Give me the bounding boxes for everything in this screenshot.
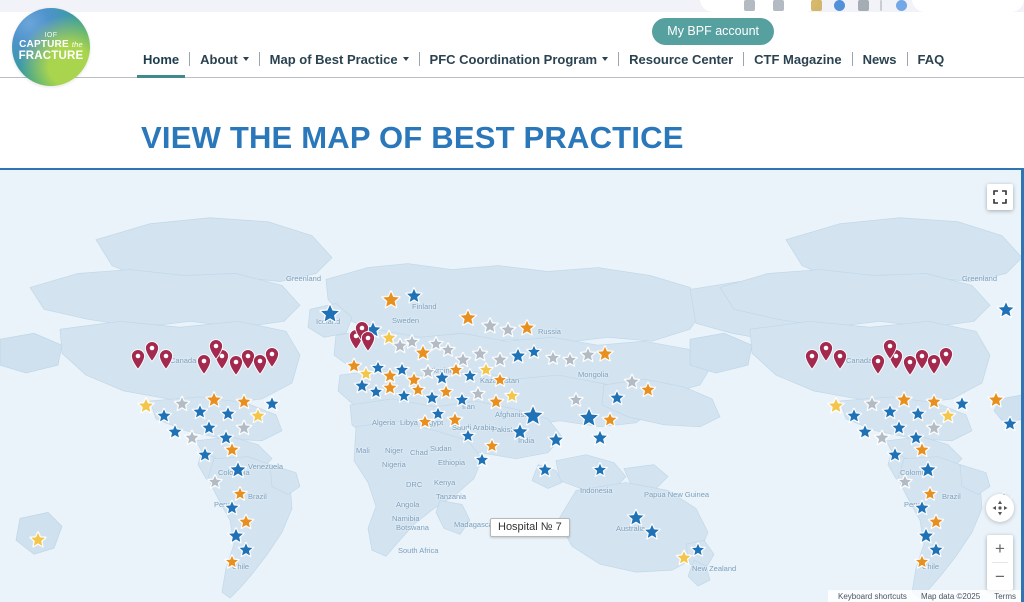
logo-org-text: IOF [45, 32, 58, 39]
map-marker-star-orange[interactable] [459, 309, 477, 327]
nav-item-label: FAQ [918, 52, 945, 67]
map-marker-star-orange[interactable] [418, 415, 433, 430]
map-canvas[interactable]: .ld { fill:#d3e3f0; stroke:#c1d8e9; stro… [0, 170, 1024, 602]
map-marker-star-blue[interactable] [592, 430, 609, 447]
map-marker-star-blue[interactable] [475, 453, 490, 468]
map-marker-star-gray[interactable] [926, 420, 942, 436]
map-marker-star-orange[interactable] [915, 555, 930, 570]
map-marker-star-blue[interactable] [510, 348, 527, 365]
map-marker-star-blue[interactable] [397, 389, 412, 404]
nav-item-home[interactable]: Home [134, 52, 188, 77]
map-marker-star-gray[interactable] [174, 396, 190, 412]
nav-item-label: News [863, 52, 897, 67]
nav-item-pfc-coordination-program[interactable]: PFC Coordination Program [421, 52, 618, 77]
zoom-in-button[interactable]: + [987, 535, 1013, 562]
map-marker-star-orange[interactable] [988, 392, 1005, 409]
split-icon[interactable] [880, 0, 882, 11]
map-marker-star-blue[interactable] [857, 424, 873, 440]
sync-icon[interactable] [896, 0, 907, 11]
nav-item-label: PFC Coordination Program [430, 52, 598, 67]
map-marker-star-gray[interactable] [184, 430, 200, 446]
map-marker-star-gray[interactable] [569, 393, 584, 408]
map-marker-star-blue[interactable] [197, 447, 213, 463]
map-marker-pin[interactable] [361, 331, 376, 352]
map-marker-star-blue[interactable] [1002, 416, 1018, 432]
map-marker-star-blue[interactable] [928, 542, 944, 558]
profile-icon[interactable] [834, 0, 845, 11]
capture-the-fracture-logo[interactable]: IOF CAPTURE the FRACTURE [12, 8, 90, 86]
map-marker-star-blue[interactable] [891, 420, 907, 436]
nav-separator [189, 52, 190, 66]
map-marker-star-gray[interactable] [563, 353, 578, 368]
map-data-attribution: Map data ©2025 [921, 592, 980, 601]
map-marker-star-gray[interactable] [546, 351, 561, 366]
map-marker-pin[interactable] [265, 347, 280, 368]
logo-the-text: the [72, 40, 83, 49]
map-marker-star-orange[interactable] [488, 394, 504, 410]
map-marker-star-blue[interactable] [537, 462, 553, 478]
map-marker-star-blue[interactable] [455, 393, 470, 408]
map-marker-star-gold[interactable] [828, 398, 845, 415]
map-marker-pin[interactable] [805, 349, 820, 370]
map-marker-star-blue[interactable] [548, 432, 565, 449]
map-marker-star-gray[interactable] [208, 475, 223, 490]
terms-link[interactable]: Terms [994, 592, 1016, 601]
zoom-controls[interactable]: + − [987, 535, 1013, 590]
map-marker-pin[interactable] [883, 339, 898, 360]
bookmark-star-icon[interactable] [773, 0, 784, 11]
map-marker-pin[interactable] [833, 349, 848, 370]
map-marker-star-blue[interactable] [609, 390, 625, 406]
map-marker-star-blue[interactable] [156, 408, 172, 424]
map-marker-star-blue[interactable] [238, 542, 254, 558]
map-marker-pin[interactable] [145, 341, 160, 362]
map-marker-pin[interactable] [131, 349, 146, 370]
map-marker-star-gray[interactable] [482, 318, 499, 335]
map-marker-star-orange[interactable] [914, 442, 930, 458]
cast-icon[interactable] [744, 0, 755, 11]
extension-puzzle-icon[interactable] [811, 0, 822, 11]
map-marker-star-blue[interactable] [593, 463, 608, 478]
map-marker-star-orange[interactable] [449, 363, 464, 378]
map-marker-star-blue[interactable] [919, 461, 937, 479]
main-navigation: HomeAboutMap of Best PracticePFC Coordin… [134, 43, 953, 77]
map-marker-star-blue[interactable] [846, 408, 862, 424]
map-marker-star-blue[interactable] [954, 396, 970, 412]
map-marker-star-gray[interactable] [500, 322, 516, 338]
map-marker-star-gray[interactable] [471, 387, 486, 402]
map-marker-star-blue[interactable] [220, 406, 236, 422]
map-marker-star-blue[interactable] [887, 447, 903, 463]
map-marker-star-blue[interactable] [431, 407, 446, 422]
map-marker-star-blue[interactable] [910, 406, 926, 422]
map-marker-star-orange[interactable] [447, 412, 463, 428]
map-attribution-bar: Keyboard shortcuts Map data ©2025 Terms [828, 590, 1024, 602]
logo-capture-text: CAPTURE [19, 39, 69, 50]
map-marker-star-blue[interactable] [691, 543, 706, 558]
map-marker-star-blue[interactable] [461, 429, 476, 444]
nav-separator [907, 52, 908, 66]
page-title: VIEW THE MAP OF BEST PRACTICE [141, 120, 684, 156]
world-map-graphic: .ld { fill:#d3e3f0; stroke:#c1d8e9; stro… [0, 170, 1024, 602]
map-marker-star-blue[interactable] [527, 345, 542, 360]
browser-toolbar-pill [700, 0, 818, 12]
map-marker-star-blue[interactable] [997, 301, 1015, 319]
map-marker-star-gray[interactable] [624, 374, 640, 390]
map-marker-star-blue[interactable] [627, 509, 645, 527]
nav-separator [743, 52, 744, 66]
map-marker-pin[interactable] [159, 349, 174, 370]
map-marker-star-orange[interactable] [493, 373, 508, 388]
nav-item-label: Home [143, 52, 179, 67]
keyboard-shortcuts-link[interactable]: Keyboard shortcuts [838, 592, 907, 601]
map-marker-pin[interactable] [939, 347, 954, 368]
map-marker-star-blue[interactable] [264, 396, 280, 412]
chevron-down-icon [243, 57, 249, 61]
map-marker-star-orange[interactable] [439, 385, 454, 400]
map-marker-star-orange[interactable] [640, 382, 656, 398]
map-marker-star-orange[interactable] [382, 291, 401, 310]
nav-item-news[interactable]: News [854, 52, 906, 77]
map-marker-star-blue[interactable] [579, 408, 600, 429]
my-bpf-account-button[interactable]: My BPF account [652, 18, 774, 45]
site-header: IOF CAPTURE the FRACTURE My BPF account … [0, 12, 1024, 78]
nav-item-map-of-best-practice[interactable]: Map of Best Practice [261, 52, 418, 77]
inbox-icon[interactable] [858, 0, 869, 11]
browser-toolbar-sliver [0, 0, 1024, 12]
map-marker-star-blue[interactable] [320, 304, 341, 325]
chevron-down-icon [602, 57, 608, 61]
browser-omnibox-pill [912, 0, 1024, 12]
zoom-out-button[interactable]: − [987, 563, 1013, 590]
map-marker-star-orange[interactable] [224, 442, 240, 458]
map-marker-star-gray[interactable] [236, 420, 252, 436]
nav-separator [259, 52, 260, 66]
fullscreen-icon [993, 190, 1007, 204]
nav-separator [618, 52, 619, 66]
nav-separator [419, 52, 420, 66]
map-marker-star-gold[interactable] [479, 363, 494, 378]
pan-compass-button[interactable] [986, 494, 1014, 522]
map-of-best-practice[interactable]: .ld { fill:#d3e3f0; stroke:#c1d8e9; stro… [0, 168, 1024, 602]
map-marker-star-gray[interactable] [898, 475, 913, 490]
logo-line1: CAPTURE the [19, 40, 83, 51]
map-marker-star-orange[interactable] [597, 346, 614, 363]
chevron-down-icon [403, 57, 409, 61]
map-marker-star-gray[interactable] [580, 347, 596, 363]
nav-item-label: Resource Center [629, 52, 733, 67]
map-marker-star-blue[interactable] [644, 524, 661, 541]
map-marker-star-orange[interactable] [485, 439, 500, 454]
map-marker-star-gray[interactable] [492, 352, 508, 368]
map-marker-star-blue[interactable] [406, 288, 423, 305]
map-marker-star-blue[interactable] [463, 369, 478, 384]
nav-item-ctf-magazine[interactable]: CTF Magazine [745, 52, 850, 77]
fullscreen-button[interactable] [987, 184, 1013, 210]
map-marker-star-gold[interactable] [30, 532, 47, 549]
logo-fracture-text: FRACTURE [19, 50, 84, 62]
map-marker-star-gray[interactable] [864, 396, 880, 412]
map-marker-star-blue[interactable] [229, 461, 247, 479]
map-marker-star-gray[interactable] [874, 430, 890, 446]
map-marker-star-gold[interactable] [138, 398, 155, 415]
nav-item-label: About [200, 52, 238, 67]
map-marker-star-blue[interactable] [167, 424, 183, 440]
nav-item-faq[interactable]: FAQ [909, 52, 954, 77]
map-marker-star-blue[interactable] [511, 423, 529, 441]
marker-tooltip: Hospital № 7 [490, 518, 570, 537]
map-marker-pin[interactable] [209, 339, 224, 360]
map-marker-star-orange[interactable] [225, 555, 240, 570]
nav-item-label: Map of Best Practice [270, 52, 398, 67]
map-marker-star-gray[interactable] [441, 343, 456, 358]
map-marker-star-gray[interactable] [472, 346, 488, 362]
pan-compass-icon [991, 499, 1009, 517]
map-marker-star-orange[interactable] [602, 412, 618, 428]
map-marker-star-orange[interactable] [519, 320, 536, 337]
nav-item-label: CTF Magazine [754, 52, 841, 67]
map-marker-pin[interactable] [819, 341, 834, 362]
nav-separator [852, 52, 853, 66]
nav-item-about[interactable]: About [191, 52, 258, 77]
map-marker-star-gold[interactable] [505, 389, 520, 404]
nav-item-resource-center[interactable]: Resource Center [620, 52, 742, 77]
map-marker-star-blue[interactable] [201, 420, 217, 436]
